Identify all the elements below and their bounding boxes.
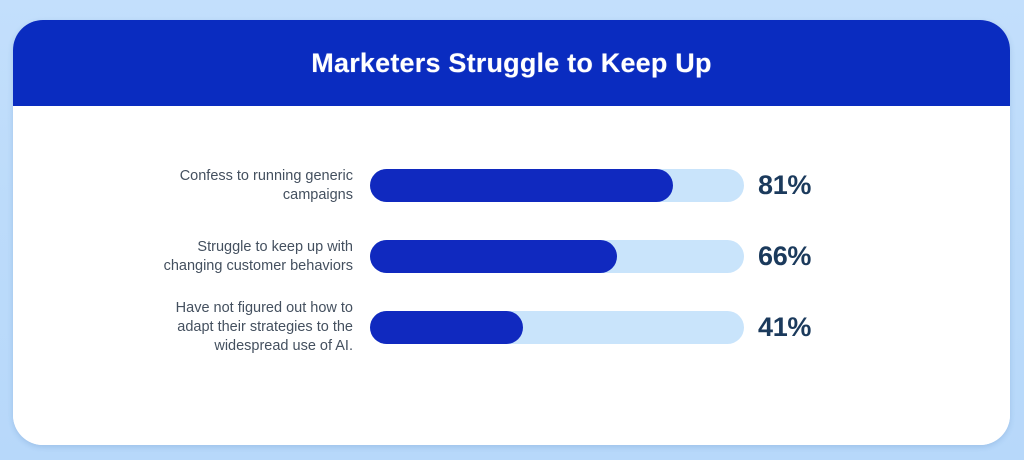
bar-label-line: widespread use of AI. — [13, 337, 353, 356]
chart-card: Marketers Struggle to Keep Up Confess to… — [13, 20, 1010, 445]
bar-track — [370, 169, 744, 202]
card-header: Marketers Struggle to Keep Up — [13, 20, 1010, 106]
bar-track — [370, 240, 744, 273]
bar-value: 66% — [758, 243, 811, 270]
bar-fill — [370, 311, 523, 344]
bar-label: Have not figured out how to adapt their … — [13, 299, 370, 356]
bar-label: Struggle to keep up with changing custom… — [13, 238, 370, 276]
bar-label-line: changing customer behaviors — [13, 257, 353, 276]
bar-label-line: Have not figured out how to — [13, 299, 353, 318]
bar-fill — [370, 169, 673, 202]
bar-label: Confess to running generic campaigns — [13, 167, 370, 205]
bar-label-line: Struggle to keep up with — [13, 238, 353, 257]
page-background: Marketers Struggle to Keep Up Confess to… — [0, 0, 1024, 460]
bar-row: Confess to running generic campaigns 81% — [13, 150, 1010, 221]
bar-track — [370, 311, 744, 344]
bar-label-line: Confess to running generic — [13, 167, 353, 186]
bar-value: 41% — [758, 314, 811, 341]
chart-title: Marketers Struggle to Keep Up — [311, 50, 711, 77]
bar-fill — [370, 240, 617, 273]
bar-value: 81% — [758, 172, 811, 199]
bar-row: Struggle to keep up with changing custom… — [13, 221, 1010, 292]
bar-row: Have not figured out how to adapt their … — [13, 292, 1010, 363]
bar-label-line: campaigns — [13, 186, 353, 205]
bar-label-line: adapt their strategies to the — [13, 318, 353, 337]
chart-body: Confess to running generic campaigns 81%… — [13, 106, 1010, 445]
